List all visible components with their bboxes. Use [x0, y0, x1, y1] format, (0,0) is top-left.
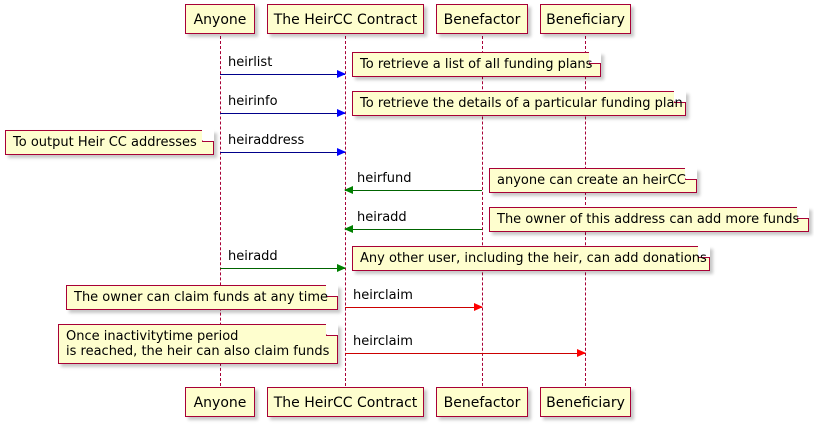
participant-anyone-header[interactable]: Anyone: [185, 4, 255, 34]
lifeline-benefactor: [482, 36, 483, 386]
note-text: The owner of this address can add more f…: [497, 212, 799, 227]
note-text: To output Heir CC addresses: [13, 135, 197, 150]
participant-label: Beneficiary: [546, 395, 625, 411]
note-n3: To output Heir CC addresses: [5, 130, 214, 155]
note-text: Once inactivitytime period is reached, t…: [66, 329, 329, 359]
note-folded-corner-icon: [202, 130, 214, 142]
participant-label: Benefactor: [444, 12, 521, 28]
note-text: To retrieve a list of all funding plans: [360, 57, 592, 72]
arrow-shaft: [345, 307, 482, 308]
participant-label: Anyone: [194, 395, 247, 411]
participant-label: Beneficiary: [546, 12, 625, 28]
arrow-head-icon: [474, 303, 483, 311]
arrow-head-icon: [344, 186, 353, 194]
note-n6: Any other user, including the heir, can …: [352, 246, 710, 271]
note-n4: anyone can create an heirCC: [489, 168, 697, 193]
arrow-shaft: [345, 353, 585, 354]
arrow-head-icon: [337, 70, 346, 78]
note-n2: To retrieve the details of a particular …: [352, 91, 686, 116]
message-label: heirinfo: [228, 94, 278, 109]
note-n8: Once inactivitytime period is reached, t…: [58, 324, 338, 364]
arrow-head-icon: [337, 109, 346, 117]
arrow-head-icon: [337, 264, 346, 272]
participant-label: The HeirCC Contract: [274, 12, 418, 28]
participant-label: Benefactor: [444, 395, 521, 411]
note-text: anyone can create an heirCC: [497, 173, 686, 188]
participant-benefactor-header[interactable]: Benefactor: [436, 4, 528, 34]
note-text: The owner can claim funds at any time: [74, 290, 328, 305]
message-label: heirfund: [357, 171, 412, 186]
participant-label: The HeirCC Contract: [274, 395, 418, 411]
arrow-head-icon: [577, 349, 586, 357]
arrow-shaft: [345, 190, 482, 191]
participant-benefactor-footer[interactable]: Benefactor: [436, 387, 528, 417]
participant-label: Anyone: [194, 12, 247, 28]
message-label: heiradd: [357, 210, 407, 225]
arrow-head-icon: [337, 148, 346, 156]
message-label: heirclaim: [353, 288, 413, 303]
note-n7: The owner can claim funds at any time: [66, 285, 338, 310]
sequence-diagram-canvas: AnyoneThe HeirCC ContractBenefactorBenef…: [0, 0, 814, 425]
note-text: Any other user, including the heir, can …: [360, 251, 707, 266]
arrow-head-icon: [344, 225, 353, 233]
participant-anyone-footer[interactable]: Anyone: [185, 387, 255, 417]
note-n1: To retrieve a list of all funding plans: [352, 52, 601, 77]
participant-heircc-header[interactable]: The HeirCC Contract: [267, 4, 424, 34]
lifeline-heircc: [345, 36, 346, 386]
message-label: heiradd: [228, 249, 278, 264]
arrow-shaft: [220, 152, 345, 153]
note-folded-corner-icon: [326, 324, 338, 336]
message-label: heirlist: [228, 55, 272, 70]
arrow-shaft: [220, 113, 345, 114]
message-label: heirclaim: [353, 334, 413, 349]
note-folded-corner-icon: [685, 168, 697, 180]
arrow-shaft: [345, 229, 482, 230]
message-label: heiraddress: [228, 133, 304, 148]
note-n5: The owner of this address can add more f…: [489, 207, 809, 232]
arrow-shaft: [220, 268, 345, 269]
arrow-shaft: [220, 74, 345, 75]
note-text: To retrieve the details of a particular …: [360, 96, 683, 111]
participant-beneficiary-footer[interactable]: Beneficiary: [540, 387, 631, 417]
participant-beneficiary-header[interactable]: Beneficiary: [540, 4, 631, 34]
participant-heircc-footer[interactable]: The HeirCC Contract: [267, 387, 424, 417]
